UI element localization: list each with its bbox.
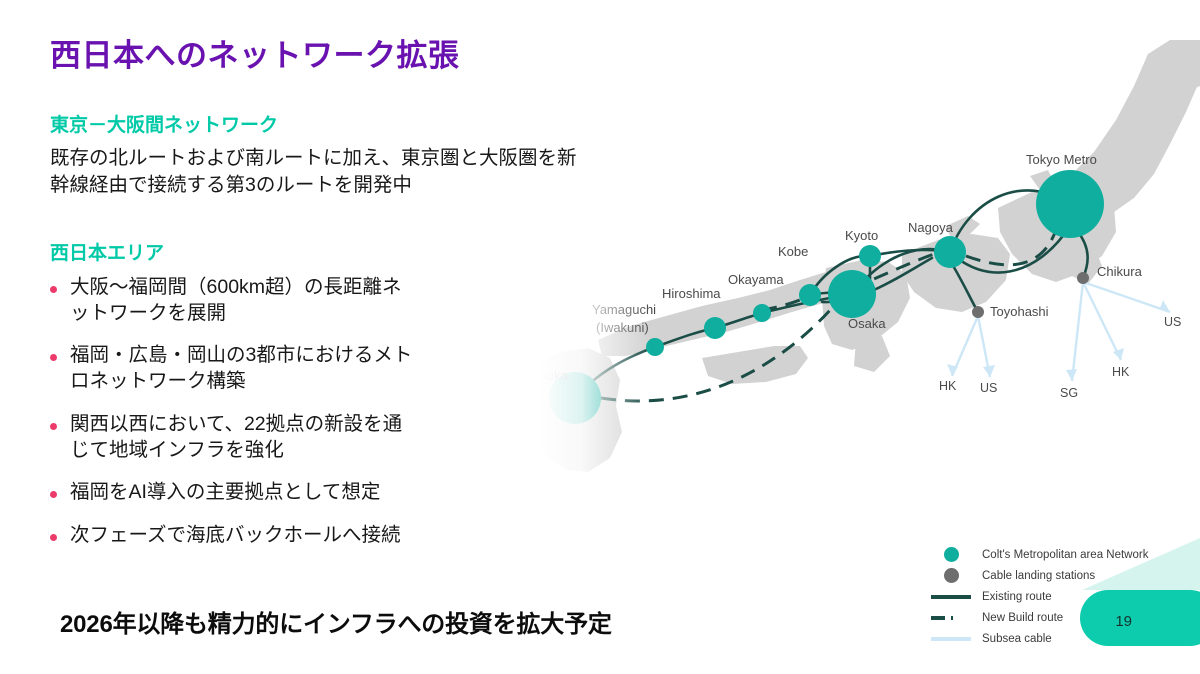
bullet-dot-icon	[50, 423, 57, 430]
section-heading-west-japan: 西日本エリア	[50, 238, 164, 265]
bullet-line: ットワークを展開	[70, 301, 530, 327]
bullet-line: 福岡・広島・岡山の3都市におけるメト	[70, 343, 530, 369]
bullet-line: じて地域インフラを強化	[70, 438, 530, 464]
legend-label: Existing route	[982, 591, 1052, 603]
label-yamaguchi: Yamaguchi	[592, 302, 656, 317]
legend-label: Subsea cable	[982, 633, 1052, 645]
dashed-line-icon	[928, 609, 974, 627]
bullet-text: 福岡・広島・岡山の3都市におけるメト ロネットワーク構築	[70, 343, 530, 394]
label-toyohashi: Toyohashi	[990, 304, 1049, 319]
footer-statement: 2026年以降も精力的にインフラへの投資を拡大予定	[60, 604, 612, 639]
label-kyoto: Kyoto	[845, 228, 878, 243]
page-number: 19	[1115, 613, 1132, 630]
legend-label: Cable landing stations	[982, 570, 1095, 582]
bullet-text: 次フェーズで海底バックホールへ接続	[70, 523, 530, 549]
label-osaka: Osaka	[848, 316, 886, 331]
label-subsea-hk-chikura: HK	[1112, 365, 1130, 379]
bullet-line: 福岡をAI導入の主要拠点として想定	[70, 480, 530, 506]
list-item: 福岡・広島・岡山の3都市におけるメト ロネットワーク構築	[50, 343, 530, 394]
bullet-text: 大阪～福岡間（600km超）の長距離ネ ットワークを展開	[70, 275, 530, 326]
label-subsea-us-chikura: US	[1164, 315, 1181, 329]
bullet-line: 大阪～福岡間（600km超）の長距離ネ	[70, 275, 530, 301]
bullet-text: 関西以西において、22拠点の新設を通 じて地域インフラを強化	[70, 412, 530, 463]
solid-line-icon	[928, 588, 974, 606]
section-heading-tokyo-osaka: 東京－大阪間ネットワーク	[50, 110, 278, 137]
label-hiroshima: Hiroshima	[662, 286, 721, 301]
station-chikura	[1077, 272, 1089, 284]
bullet-dot-icon	[50, 491, 57, 498]
label-chikura: Chikura	[1097, 264, 1143, 279]
label-subsea-us-toyohashi: US	[980, 381, 997, 395]
paragraph-line-1: 既存の北ルートおよび南ルートに加え、東京圏と大阪圏を新	[50, 145, 750, 172]
list-item: 次フェーズで海底バックホールへ接続	[50, 523, 530, 549]
node-kobe	[799, 284, 821, 306]
label-tokyo-metro: Tokyo Metro	[1026, 152, 1097, 167]
node-nagoya	[934, 236, 966, 268]
list-item: 関西以西において、22拠点の新設を通 じて地域インフラを強化	[50, 412, 530, 463]
section-paragraph-tokyo-osaka: 既存の北ルートおよび南ルートに加え、東京圏と大阪圏を新 幹線経由で接続する第3の…	[50, 145, 750, 199]
bullet-list: 大阪～福岡間（600km超）の長距離ネ ットワークを展開 福岡・広島・岡山の3都…	[50, 275, 530, 566]
node-okayama	[753, 304, 771, 322]
slide-canvas: Fukuoka Yamaguchi (Iwakuni) Hiroshima Ok…	[0, 0, 1200, 674]
page-title: 西日本へのネットワーク拡張	[50, 30, 460, 75]
page-number-badge	[1080, 590, 1200, 646]
subsea-line-icon	[928, 630, 974, 648]
bullet-line: ロネットワーク構築	[70, 369, 530, 395]
bullet-text: 福岡をAI導入の主要拠点として想定	[70, 480, 530, 506]
node-hiroshima	[704, 317, 726, 339]
japan-landmass	[506, 40, 1200, 472]
label-nagoya: Nagoya	[908, 220, 954, 235]
japan-network-map: Fukuoka Yamaguchi (Iwakuni) Hiroshima Ok…	[470, 40, 1200, 520]
gray-circle-icon	[928, 567, 974, 585]
list-item: 大阪～福岡間（600km超）の長距離ネ ットワークを展開	[50, 275, 530, 326]
node-kyoto	[859, 245, 881, 267]
station-toyohashi	[972, 306, 984, 318]
subsea-chikura-sg	[1072, 282, 1083, 381]
bullet-line: 関西以西において、22拠点の新設を通	[70, 412, 530, 438]
legend-label: Colt's Metropolitan area Network	[982, 549, 1148, 561]
node-osaka	[828, 270, 876, 318]
list-item: 福岡をAI導入の主要拠点として想定	[50, 480, 530, 506]
label-subsea-sg-chikura: SG	[1060, 386, 1078, 400]
label-subsea-hk-toyohashi: HK	[939, 379, 957, 393]
legend-label: New Build route	[982, 612, 1063, 624]
bullet-line: 次フェーズで海底バックホールへ接続	[70, 523, 530, 549]
node-tokyo-metro	[1036, 170, 1104, 238]
label-okayama: Okayama	[728, 272, 784, 287]
paragraph-line-2: 幹線経由で接続する第3のルートを開発中	[50, 172, 750, 199]
label-kobe: Kobe	[778, 244, 808, 259]
bullet-dot-icon	[50, 286, 57, 293]
node-yamaguchi	[646, 338, 664, 356]
label-iwakuni: (Iwakuni)	[596, 320, 649, 335]
teal-circle-icon	[928, 546, 974, 564]
bullet-dot-icon	[50, 354, 57, 361]
bullet-dot-icon	[50, 534, 57, 541]
